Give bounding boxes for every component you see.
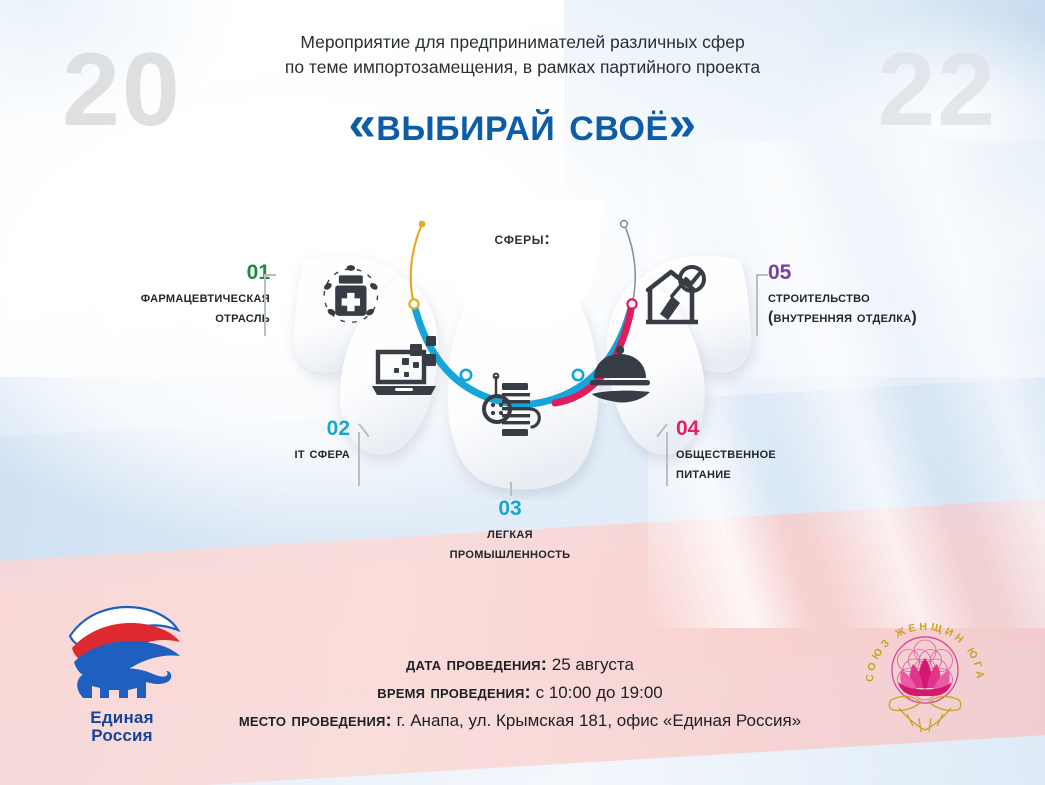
event-time-value: с 10:00 до 19:00 [531, 683, 663, 702]
callout-05-tick-top [756, 274, 768, 276]
callout-05-construction: 05 Строительство (внутренняя отделка) [768, 262, 1018, 328]
callout-01-tick [264, 274, 266, 336]
subtitle-line-1: Мероприятие для предпринимателей различн… [213, 30, 833, 55]
callout-04-tick [666, 432, 668, 486]
callout-04-label: Общественное питание [676, 444, 886, 484]
callout-03-label: Легкая промышленность [400, 524, 620, 564]
event-info: Дата проведения: 25 августа Время провед… [170, 650, 870, 734]
callout-02-tick [358, 432, 360, 486]
event-place-label: Место проведения: [239, 709, 392, 730]
event-info-row: Время проведения: с 10:00 до 19:00 [170, 678, 870, 706]
callout-02-it: 02 IT сфера [200, 418, 350, 464]
spheres-label: Сферы: [494, 228, 550, 249]
callout-05-number: 05 [768, 262, 1018, 283]
callout-03-light-industry: 03 Легкая промышленность [400, 498, 620, 564]
event-date-label: Дата проведения: [406, 653, 547, 674]
callout-04-catering: 04 Общественное питание [676, 418, 886, 484]
united-russia-logo: Единая Россия [62, 602, 182, 744]
united-russia-wordmark: Единая Россия [62, 709, 182, 744]
lotus-icon [899, 658, 951, 696]
event-place-value: г. Анапа, ул. Крымская 181, офис «Единая… [392, 711, 801, 730]
event-date-value: 25 августа [547, 655, 634, 674]
header: Мероприятие для предпринимателей различн… [0, 30, 1045, 152]
callout-04-number: 04 [676, 418, 886, 439]
women-union-south-logo: СОЮЗ ЖЕНЩИН ЮГА [855, 608, 995, 744]
women-union-emblem: СОЮЗ ЖЕНЩИН ЮГА [855, 608, 995, 744]
poster-root: 20 22 Мероприятие для предпринимателей р… [0, 0, 1045, 785]
callout-05-label: Строительство (внутренняя отделка) [768, 288, 1018, 328]
event-info-row: Место проведения: г. Анапа, ул. Крымская… [170, 706, 870, 734]
page-title: «Выбирай своё» [0, 96, 1045, 152]
united-russia-emblem [62, 602, 182, 712]
callout-03-number: 03 [400, 498, 620, 519]
callout-02-number: 02 [200, 418, 350, 439]
callout-01-pharma: 01 Фармацевтическая отрасль [55, 262, 270, 328]
callout-01-number: 01 [55, 262, 270, 283]
subtitle-line-2: по теме импортозамещения, в рамках парти… [213, 55, 833, 80]
callout-01-label: Фармацевтическая отрасль [55, 288, 270, 328]
callout-02-label: IT сфера [200, 444, 350, 464]
event-info-row: Дата проведения: 25 августа [170, 650, 870, 678]
event-time-label: Время проведения: [377, 681, 531, 702]
hands-icon [889, 696, 960, 732]
callout-01-tick-top [264, 274, 276, 276]
united-russia-line-1: Единая [62, 709, 182, 726]
polar-bear-icon [77, 668, 171, 698]
subtitle: Мероприятие для предпринимателей различн… [213, 30, 833, 80]
spheres-diagram: Сферы: [0, 200, 1045, 500]
callout-05-tick [756, 274, 758, 336]
united-russia-line-2: Россия [62, 727, 182, 744]
callout-03-tick [510, 482, 512, 496]
